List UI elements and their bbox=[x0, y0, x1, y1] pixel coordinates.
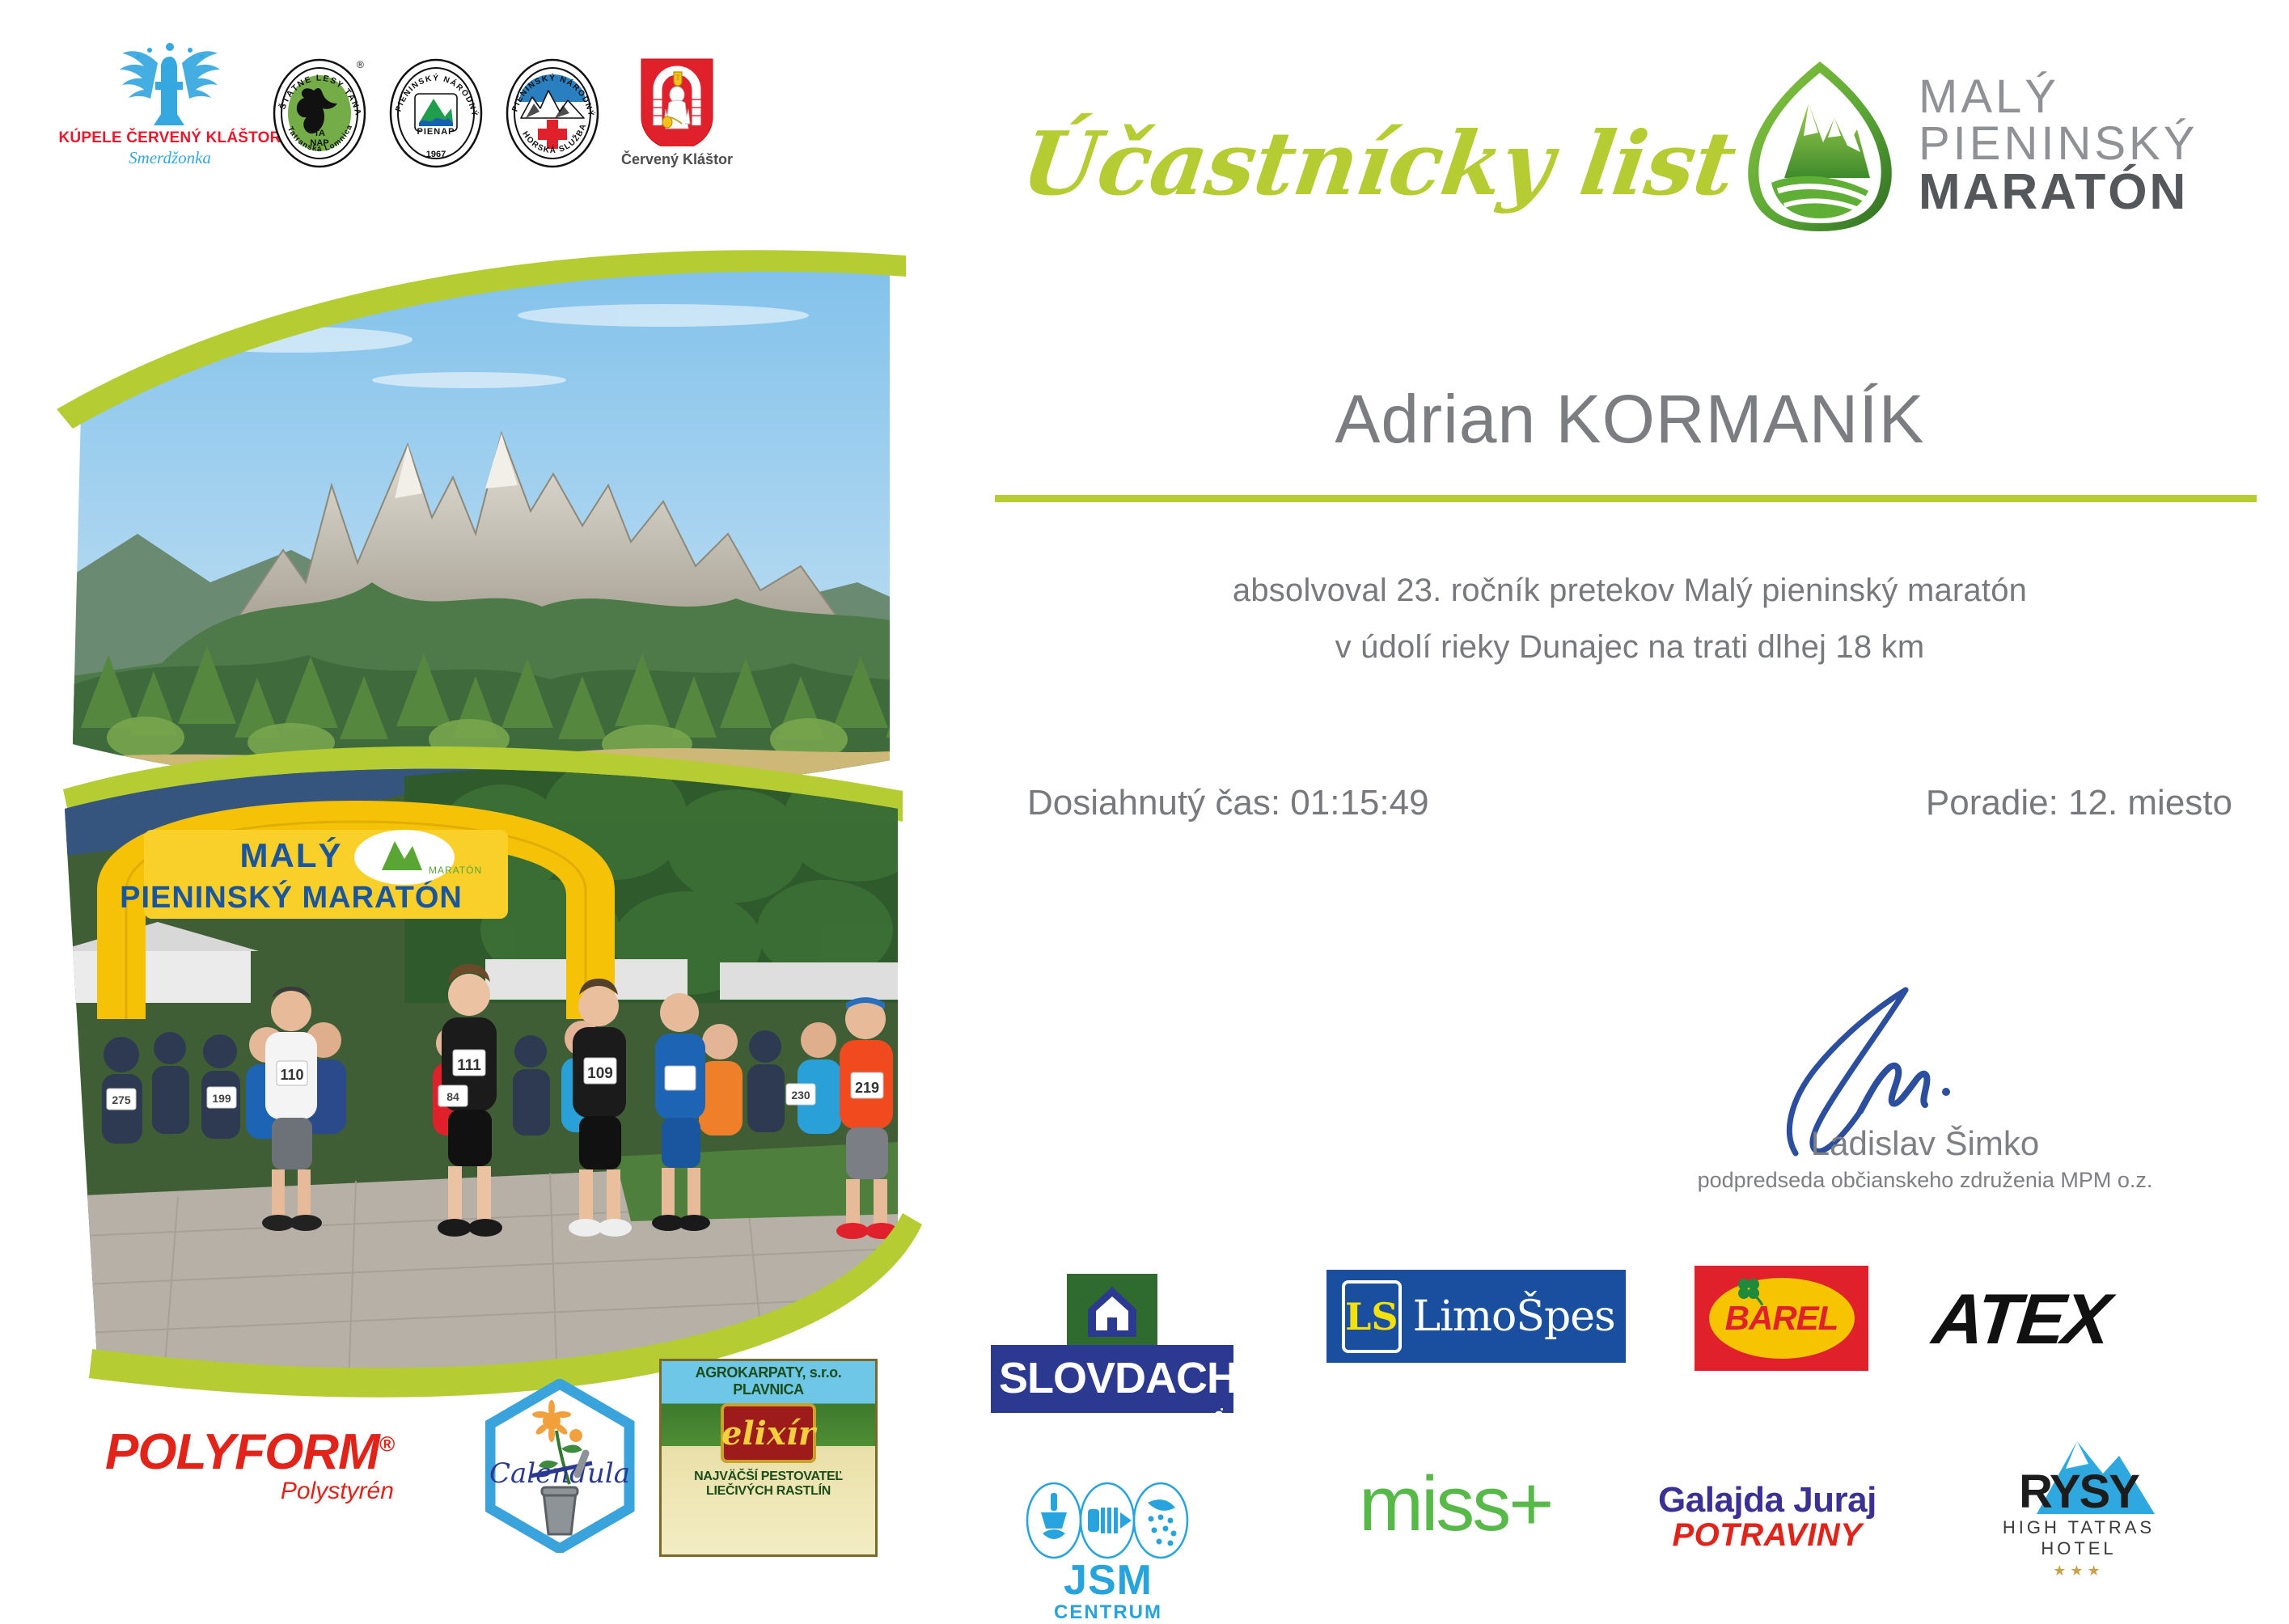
rysy-stars: ★★★ bbox=[1982, 1563, 2176, 1580]
photo-collage: MALÝ PIENINSKÝ MARATÓN MARATÓN bbox=[49, 243, 930, 1415]
crest-caption: Červený Kláštor bbox=[621, 151, 733, 168]
recipient-name: Adrian KORMANÍK bbox=[995, 380, 2265, 459]
limospes-suffix: s.r.o. bbox=[1634, 1322, 1651, 1353]
agrokarpaty-top-text: AGROKARPATY, s.r.o. PLAVNICA bbox=[662, 1361, 875, 1398]
polyform-name: POLYFORM bbox=[105, 1424, 379, 1480]
partner-logo-kupele-cerveny-klastor: KÚPELE ČERVENÝ KLÁŠTOR Smerdžonka bbox=[89, 39, 251, 168]
svg-text:111: 111 bbox=[457, 1057, 481, 1074]
svg-text:109: 109 bbox=[587, 1065, 613, 1082]
marigold-mortar-icon: Calendula bbox=[485, 1379, 635, 1553]
event-logo: MALÝ PIENINSKÝ MARATÓN bbox=[1739, 57, 2198, 235]
signer-name: Ladislav Šimko bbox=[1610, 1124, 2240, 1163]
page-title: Účastnícky list bbox=[1016, 113, 1741, 215]
partner-logo-horska-sluzba: PIENINSKÝ NÁRODNÝ PARK HORSKÁ SLUŽBA bbox=[505, 55, 600, 168]
jsm-subtitle: CENTRUM bbox=[995, 1601, 1221, 1624]
leaf-mountain-icon bbox=[1739, 57, 1901, 235]
sponsor-logo-galajda-juraj: Galajda Juraj POTRAVINY bbox=[1658, 1480, 1876, 1554]
signer-role: podpredseda občianskeho združenia MPM o.… bbox=[1610, 1168, 2240, 1193]
certificate-page: KÚPELE ČERVENÝ KLÁŠTOR Smerdžonka TA NAP… bbox=[0, 0, 2289, 1618]
kupele-label-line2: Smerdžonka bbox=[129, 148, 211, 168]
jsm-name: JSM bbox=[995, 1556, 1221, 1605]
sponsor-logo-calendula: Calendula bbox=[485, 1379, 635, 1553]
mountain-peak-icon: RYSY bbox=[1982, 1423, 2176, 1520]
slovdach-suffix: s.r.o. bbox=[1210, 1408, 1227, 1437]
sponsor-logo-barel: BAREL bbox=[1695, 1266, 1868, 1371]
svg-text:1967: 1967 bbox=[426, 150, 446, 159]
partner-logo-pieninsky-narodny-park: PIENAP PIENINSKÝ NÁRODNÝ PARK 1967 bbox=[388, 55, 484, 168]
partner-logo-row: KÚPELE ČERVENÝ KLÁŠTOR Smerdžonka TA NAP… bbox=[89, 39, 733, 168]
paint-tools-icon bbox=[995, 1480, 1221, 1561]
sponsor-logo-slovdach: SLOVDACH s.r.o. bbox=[991, 1274, 1233, 1413]
kupele-label-line1: KÚPELE ČERVENÝ KLÁŠTOR bbox=[58, 129, 281, 147]
agrokarpaty-bottom-line1: NAJVÄČŠÍ PESTOVATEĽ bbox=[662, 1470, 875, 1484]
partner-logo-cerveny-klastor: T Červený Kláštor bbox=[621, 56, 733, 168]
svg-text:110: 110 bbox=[280, 1067, 303, 1083]
sponsor-logo-limospes: LS LimoŠpes s.r.o. bbox=[1326, 1270, 1626, 1363]
sponsor-logo-rysy-hotel: RYSY HIGH TATRAS HOTEL ★★★ bbox=[1982, 1423, 2176, 1580]
rank-placement: Poradie: 12. miesto bbox=[1926, 783, 2232, 823]
svg-text:TA: TA bbox=[314, 129, 325, 138]
svg-text:230: 230 bbox=[791, 1089, 810, 1102]
rysy-subtitle: HIGH TATRAS HOTEL bbox=[1982, 1517, 2176, 1559]
four-leaf-clover-icon bbox=[1733, 1275, 1764, 1305]
svg-text:®: ® bbox=[357, 59, 364, 70]
partner-logo-statne-lesy-tanapu: TA NAP ŠTÁTNE LESY TANAPu Tatranská Lomn… bbox=[272, 55, 367, 168]
svg-text:84: 84 bbox=[446, 1090, 459, 1103]
result-row: Dosiahnutý čas: 01:15:49 Poradie: 12. mi… bbox=[995, 783, 2265, 823]
svg-text:275: 275 bbox=[112, 1093, 131, 1106]
galajda-line1: Galajda Juraj bbox=[1658, 1480, 1876, 1520]
limospes-name: LimoŠpes bbox=[1413, 1292, 1615, 1341]
event-logo-line1: MALÝ bbox=[1919, 74, 2198, 121]
sponsor-logo-agrokarpaty: AGROKARPATY, s.r.o. PLAVNICA elixír NAJV… bbox=[659, 1359, 878, 1557]
polyform-tagline: Polystyrén bbox=[105, 1478, 394, 1505]
title-divider bbox=[995, 495, 2257, 502]
svg-text:219: 219 bbox=[855, 1080, 879, 1096]
svg-text:MARATÓN: MARATÓN bbox=[429, 864, 482, 876]
polyform-trademark: ® bbox=[379, 1432, 394, 1456]
svg-text:MALÝ: MALÝ bbox=[240, 836, 343, 874]
galajda-line2: POTRAVINY bbox=[1658, 1517, 1876, 1554]
certificate-body-line1: absolvoval 23. ročník pretekov Malý pien… bbox=[995, 573, 2265, 609]
event-logo-line3: MARATÓN bbox=[1919, 167, 2198, 218]
svg-text:199: 199 bbox=[212, 1092, 231, 1105]
house-roof-icon bbox=[1067, 1274, 1157, 1348]
rysy-name: RYSY bbox=[2019, 1465, 2139, 1518]
slovdach-name: SLOVDACH bbox=[999, 1354, 1238, 1402]
chamois-seal-icon: TA NAP ŠTÁTNE LESY TANAPu Tatranská Lomn… bbox=[272, 55, 367, 168]
signature-block: Ladislav Šimko podpredseda občianskeho z… bbox=[1610, 1003, 2240, 1193]
monk-coat-of-arms-icon: T bbox=[638, 56, 716, 146]
pienap-seal-icon: PIENAP PIENINSKÝ NÁRODNÝ PARK 1967 bbox=[388, 55, 484, 168]
agrokarpaty-bottom-line2: LIEČIVÝCH RASTLÍN bbox=[662, 1484, 875, 1499]
sponsor-logo-miss-plus: miss+ bbox=[1359, 1460, 1551, 1549]
finish-time: Dosiahnutý čas: 01:15:49 bbox=[1027, 783, 1429, 823]
mountain-rescue-seal-icon: PIENINSKÝ NÁRODNÝ PARK HORSKÁ SLUŽBA bbox=[505, 55, 600, 168]
calendula-name: Calendula bbox=[489, 1457, 630, 1490]
agrokarpaty-badge: elixír bbox=[721, 1403, 816, 1463]
certificate-body-line2: v údolí rieky Dunajec na trati dlhej 18 … bbox=[995, 629, 2265, 666]
sponsor-logo-atex: ATEX bbox=[1929, 1278, 2113, 1360]
event-logo-line2: PIENINSKÝ bbox=[1919, 121, 2198, 167]
water-angel-icon bbox=[93, 39, 247, 128]
limospes-monogram: LS bbox=[1342, 1280, 1402, 1353]
svg-text:T: T bbox=[675, 74, 680, 82]
pieniny-three-crowns-photo bbox=[49, 243, 930, 809]
event-logo-wordmark: MALÝ PIENINSKÝ MARATÓN bbox=[1919, 74, 2198, 218]
sponsor-logo-jsm-centrum: JSM CENTRUM bbox=[995, 1480, 1221, 1624]
svg-text:PIENAP: PIENAP bbox=[417, 127, 455, 137]
sponsor-logo-polyform: POLYFORM® Polystyrén bbox=[105, 1423, 394, 1505]
